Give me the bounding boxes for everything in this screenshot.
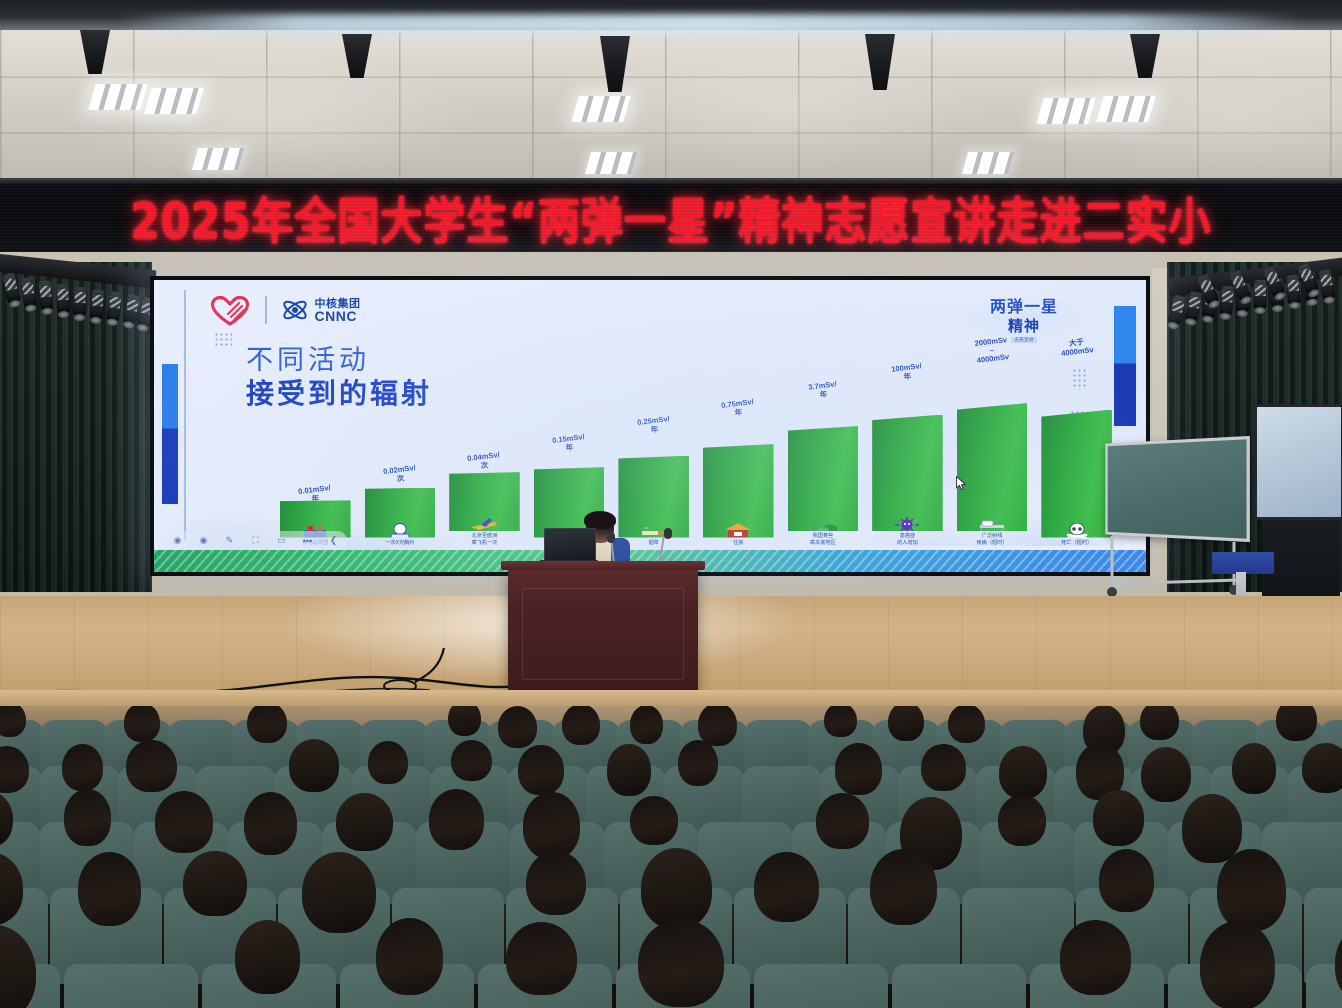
ceiling-light-panel [192, 148, 244, 170]
chart-bar [1041, 410, 1112, 538]
ceiling-light-panel [585, 152, 637, 174]
audience-member-head [126, 740, 176, 793]
chart-bar-column: 100mSv/年患癌症 的人增加 [872, 350, 943, 546]
audience-member-head [1141, 747, 1191, 802]
audience-member-head [888, 706, 924, 741]
audience-member-head [64, 789, 111, 846]
stage-spotlight [38, 280, 54, 311]
chart-bar [365, 488, 436, 538]
screen-icon[interactable]: ▭ [275, 534, 288, 547]
chart-bar [703, 444, 774, 537]
chart-bar-column: 3.7mSv/年我国某些 高本底地区 [788, 350, 859, 546]
more-options-icon[interactable]: ••• [301, 534, 314, 547]
ceiling-light-panel [962, 152, 1014, 174]
chart-bar [788, 426, 859, 531]
chart-bar [449, 472, 520, 531]
chart-bar-column: 0.75mSv/年住房 [703, 350, 774, 546]
pen-pointer-icon[interactable]: ◉ [171, 534, 184, 547]
chart-bar-category-label: 患癌症 的人增加 [897, 533, 918, 546]
chart-bar-category-label: 我国某些 高本底地区 [810, 533, 836, 546]
microphone-head [607, 532, 615, 543]
chart-bar-column: 0.25mSv/年烟草 [618, 350, 689, 546]
mouse-cursor-icon [956, 476, 967, 491]
chart-bar-category-label: 死亡（短时） [1061, 540, 1092, 547]
presenter-laptop-screen[interactable] [544, 528, 596, 562]
tv-monitor[interactable] [1254, 404, 1342, 520]
chart-bar [872, 415, 943, 531]
chart-bar-column: 2000mSv ~ 4000mSv广泛射线 疾病（短时） [957, 350, 1028, 546]
chart-bar-value-label: 3.7mSv/年 [804, 380, 841, 401]
led-banner-text: 2025年全国大学生“两弹一星”精神志愿宣讲走进二实小 [130, 182, 1211, 254]
audience-seating-area [0, 706, 1342, 1008]
cnnc-logo: 中核集团 CNNC [281, 297, 361, 323]
audience-member-head [1217, 849, 1286, 931]
chart-bar-column: 0.01mSv/年核电站周围 [280, 350, 351, 546]
powerpoint-presenter-toolbar[interactable]: ◉◉✎⛶▭•••❮ [164, 531, 347, 550]
audience-member-head [368, 741, 408, 784]
chart-bar-category-label: 烟草 [648, 540, 658, 547]
audience-member-head [870, 849, 937, 925]
chart-bar [618, 456, 689, 538]
house-icon [723, 523, 753, 538]
chart-bar-value-label: 0.04mSv/次 [466, 451, 503, 472]
audience-member-head [921, 744, 965, 790]
audience-member-head [289, 739, 339, 792]
audience-member-head [698, 706, 737, 746]
chart-bar-column: 0.02mSv/次一次X光胸片 [365, 350, 436, 546]
audience-member-head [302, 852, 376, 933]
audience-member-head [448, 706, 481, 736]
chart-bar-category-label: 广泛射线 疾病（短时） [976, 533, 1007, 546]
hills-icon [808, 516, 838, 531]
auditorium-scene: 2025年全国大学生“两弹一星”精神志愿宣讲走进二实小 [0, 0, 1342, 1008]
audience-member-head [429, 789, 485, 849]
audience-member-head [1276, 706, 1316, 741]
audience-member-head [451, 740, 492, 782]
brand-line-2: 精神 [1008, 315, 1040, 336]
audience-member-head [526, 851, 586, 915]
stage-spotlight [73, 287, 87, 317]
audience-member-head [498, 706, 538, 748]
xray-person-icon [385, 523, 415, 538]
slide-vertical-rule [184, 290, 186, 540]
chart-bar-value-label: 2000mSv ~ 4000mSv [974, 336, 1009, 366]
virus-icon [892, 516, 922, 531]
radiation-bar-chart: 0.01mSv/年核电站周围0.02mSv/次一次X光胸片0.04mSv/次北京… [280, 350, 1112, 546]
cnnc-atom-icon [281, 297, 309, 323]
audience-member-head [518, 745, 563, 795]
slide-dot-pattern [214, 332, 232, 346]
audience-member-head [1140, 706, 1178, 740]
audience-member-head [1200, 921, 1276, 1008]
audience-member-head [376, 918, 443, 995]
led-banner: 2025年全国大学生“两弹一星”精神志愿宣讲走进二实小 [0, 178, 1342, 258]
audience-member-head [816, 793, 869, 849]
previous-slide-icon[interactable]: ❮ [327, 534, 340, 547]
audience-member-head [835, 743, 882, 795]
auditorium-seat [758, 968, 884, 1008]
ceiling-glow [120, 14, 1300, 34]
audience-member-head [824, 706, 857, 737]
presentation-slide[interactable]: 中核集团 CNNC 两弹一星 精神 志愿宣讲 不同活动 接受到的辐射 0.01m… [154, 280, 1146, 572]
liangdanyixing-brand-badge: 两弹一星 精神 志愿宣讲 [960, 296, 1088, 340]
audience-member-head [78, 852, 141, 926]
audience-member-head [1060, 920, 1131, 994]
ceiling [0, 0, 1342, 190]
chart-bar-category-label: 北京至欧洲 乘飞机一次 [472, 533, 498, 546]
audience-member-head [638, 919, 723, 1007]
chart-bar-value-label: 0.75mSv/年 [720, 398, 757, 419]
audience-member-head [607, 744, 650, 795]
audience-member-head [754, 852, 819, 922]
chart-bar-value-label: 大于4000mSv [1058, 337, 1095, 358]
chart-bar-value-label: 0.25mSv/年 [635, 415, 672, 436]
led-display-screen[interactable]: 中核集团 CNNC 两弹一星 精神 志愿宣讲 不同活动 接受到的辐射 0.01m… [150, 276, 1150, 576]
hospital-bed-icon [977, 516, 1007, 531]
podium-top-surface [501, 561, 705, 570]
laser-pointer-icon[interactable]: ◉ [197, 534, 210, 547]
heart-hand-logo-icon [209, 294, 251, 326]
chart-bar-value-label: 100mSv/年 [889, 362, 926, 383]
logo-divider [265, 296, 267, 324]
audience-member-head [630, 706, 663, 744]
presenter-hair [584, 511, 616, 529]
chart-bar-value-label: 0.15mSv/年 [551, 433, 588, 454]
zoom-icon[interactable]: ⛶ [249, 534, 262, 547]
audience-member-head [62, 744, 103, 791]
audience-member-head [998, 795, 1046, 846]
ceiling-light-panel [1036, 98, 1095, 124]
audience-member-head [506, 922, 577, 995]
audience-member-head [678, 740, 718, 787]
audience-member-head [336, 793, 393, 852]
skull-icon [1062, 523, 1092, 538]
audience-member-head [183, 851, 246, 916]
audience-member-head [1093, 790, 1145, 846]
green-chalkboard [1105, 436, 1250, 542]
stage-spotlight [89, 289, 105, 320]
chart-bar-category-label: 住房 [733, 540, 743, 547]
audience-member-head [641, 848, 713, 929]
audience-member-head [247, 706, 287, 743]
audience-member-head [1099, 849, 1155, 912]
audience-member-head [948, 706, 985, 743]
ceiling-light-panel [88, 84, 147, 110]
audience-member-head [523, 792, 579, 859]
chart-bar-column: 0.04mSv/次北京至欧洲 乘飞机一次 [449, 350, 520, 546]
slide-logo-row: 中核集团 CNNC [209, 294, 361, 326]
ceiling-light-panel [571, 96, 630, 122]
stage-spotlight [1253, 280, 1267, 310]
audience-member-head [562, 706, 600, 745]
auditorium-seat [896, 968, 1022, 1008]
chart-bar-value-label: 0.02mSv/次 [381, 464, 418, 485]
ceiling-light-panel [144, 88, 203, 114]
audience-member-head [630, 796, 678, 846]
stage-spotlight [56, 284, 70, 314]
podium-front-panel [522, 588, 684, 680]
microphone-head [664, 528, 672, 539]
audience-member-head [244, 792, 298, 855]
audience-member-head [124, 706, 161, 742]
airplane-icon [469, 516, 499, 531]
cnnc-chinese-name: 中核集团 [315, 298, 361, 309]
podium [508, 568, 698, 690]
audience-member-head [999, 746, 1047, 799]
slide-accent-bar-right [1114, 306, 1136, 426]
cnnc-english-name: CNNC [315, 309, 361, 323]
chart-bar-category-label: 一次X光胸片 [385, 540, 415, 547]
audience-member-head [1302, 743, 1342, 793]
chart-bar [957, 403, 1028, 531]
audience-member-head [155, 791, 213, 853]
brand-line-1: 两弹一星 [990, 293, 1058, 317]
brand-sub-line: 志愿宣讲 [1011, 337, 1036, 343]
audience-member-head [1232, 743, 1276, 794]
blue-desk [1212, 552, 1274, 574]
audience-member-head [1182, 794, 1242, 863]
auditorium-seat [68, 968, 194, 1008]
stage-spotlight [1286, 275, 1301, 306]
audience-member-head [235, 920, 300, 994]
pen-icon[interactable]: ✎ [223, 534, 236, 547]
chart-bar-column: 大于4000mSv死亡（短时） [1041, 350, 1112, 546]
slide-accent-bar-left [162, 364, 178, 504]
ceiling-light-panel [1096, 96, 1155, 122]
